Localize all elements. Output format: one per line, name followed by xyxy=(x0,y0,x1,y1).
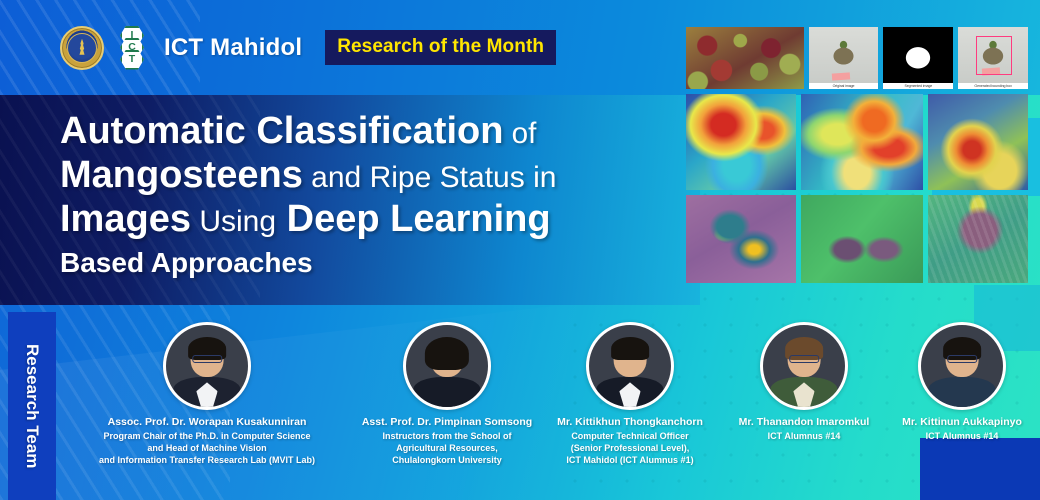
member-name: Mr. Thanandon Imaromkul xyxy=(724,416,884,429)
bounding-box-image-cell: Generated bounding box xyxy=(958,27,1028,89)
mahidol-seal-icon xyxy=(60,26,104,70)
avatar xyxy=(403,322,491,410)
team-member: Mr. Thanandon Imaromkul ICT Alumnus #14 xyxy=(724,322,884,500)
figure-row-1: Original image Segmented image Generated… xyxy=(686,27,1028,89)
member-role-line: ICT Alumnus #14 xyxy=(884,431,1040,443)
avatar xyxy=(918,322,1006,410)
member-role-line: Instructors from the School of xyxy=(358,431,536,443)
member-role: Program Chair of the Ph.D. in Computer S… xyxy=(56,431,358,467)
title-line3-bold-a: Images xyxy=(60,198,191,240)
member-role-line: and Head of Machine Vision xyxy=(56,443,358,455)
figure-row-3 xyxy=(686,195,1028,283)
research-team-label: Research Team xyxy=(22,344,42,468)
research-of-the-month-badge: Research of the Month xyxy=(325,30,556,65)
member-role-line: ICT Mahidol (ICT Alumnus #1) xyxy=(536,455,724,467)
ict-hexagon-logo-icon: I C T xyxy=(115,26,149,70)
original-image-cell: Original image xyxy=(809,27,879,89)
member-role: ICT Alumnus #14 xyxy=(884,431,1040,443)
team-member: Mr. Kittinun Aukkapinyo ICT Alumnus #14 xyxy=(884,322,1040,500)
team-member: Assoc. Prof. Dr. Worapan Kusakunniran Pr… xyxy=(56,322,358,500)
gradcam-heatmap-1 xyxy=(686,94,796,190)
title-line2-light: and Ripe Status in xyxy=(311,161,556,194)
title-line2-bold: Mangosteens xyxy=(60,154,303,196)
member-name: Mr. Kittikhun Thongkanchorn xyxy=(536,416,724,429)
member-role: Computer Technical Officer (Senior Profe… xyxy=(536,431,724,467)
figure-grid: Original image Segmented image Generated… xyxy=(686,27,1028,305)
research-team-tab: Research Team xyxy=(8,312,56,500)
avatar xyxy=(163,322,251,410)
original-image-caption: Original image xyxy=(809,83,879,89)
mangosteen-pile-photo xyxy=(686,27,804,89)
member-role: ICT Alumnus #14 xyxy=(724,431,884,443)
title-line3-bold-b: Deep Learning xyxy=(287,198,551,240)
research-team-row: Assoc. Prof. Dr. Worapan Kusakunniran Pr… xyxy=(56,322,1040,500)
gradcam-heatmap-6 xyxy=(928,195,1028,283)
member-role-line: Agricultural Resources, xyxy=(358,443,536,455)
title-line4: Based Approaches xyxy=(60,245,700,281)
gradcam-heatmap-3 xyxy=(928,94,1028,190)
brand-name: ICT Mahidol xyxy=(164,34,302,62)
bounding-box-caption: Generated bounding box xyxy=(958,83,1028,89)
member-name: Asst. Prof. Dr. Pimpinan Somsong xyxy=(358,416,536,429)
avatar xyxy=(586,322,674,410)
title-line1-light: of xyxy=(512,117,537,150)
gradcam-heatmap-4 xyxy=(686,195,796,283)
member-name: Assoc. Prof. Dr. Worapan Kusakunniran xyxy=(56,416,358,429)
member-role-line: Computer Technical Officer xyxy=(536,431,724,443)
gradcam-heatmap-5 xyxy=(801,195,923,283)
team-member: Asst. Prof. Dr. Pimpinan Somsong Instruc… xyxy=(358,322,536,500)
figure-row-2 xyxy=(686,94,1028,190)
brand: I C T ICT Mahidol Research of the Month xyxy=(60,26,556,70)
title-line1-bold: Automatic Classification xyxy=(60,110,503,152)
member-role-line: (Senior Professional Level), xyxy=(536,443,724,455)
member-role-line: and Information Transfer Research Lab (M… xyxy=(56,455,358,467)
title-band: Automatic Classification of Mangosteens … xyxy=(0,95,700,305)
member-role-line: Chulalongkorn University xyxy=(358,455,536,467)
title-line3-light: Using xyxy=(199,205,276,238)
member-name: Mr. Kittinun Aukkapinyo xyxy=(884,416,1040,429)
member-role-line: Program Chair of the Ph.D. in Computer S… xyxy=(56,431,358,443)
research-poster: I C T ICT Mahidol Research of the Month … xyxy=(0,0,1040,500)
segmented-image-caption: Segmented image xyxy=(883,83,953,89)
segmented-image-cell: Segmented image xyxy=(883,27,953,89)
member-role-line: ICT Alumnus #14 xyxy=(724,431,884,443)
page-title: Automatic Classification of Mangosteens … xyxy=(60,109,700,282)
member-role: Instructors from the School of Agricultu… xyxy=(358,431,536,467)
team-member: Mr. Kittikhun Thongkanchorn Computer Tec… xyxy=(536,322,724,500)
avatar xyxy=(760,322,848,410)
gradcam-heatmap-2 xyxy=(801,94,923,190)
